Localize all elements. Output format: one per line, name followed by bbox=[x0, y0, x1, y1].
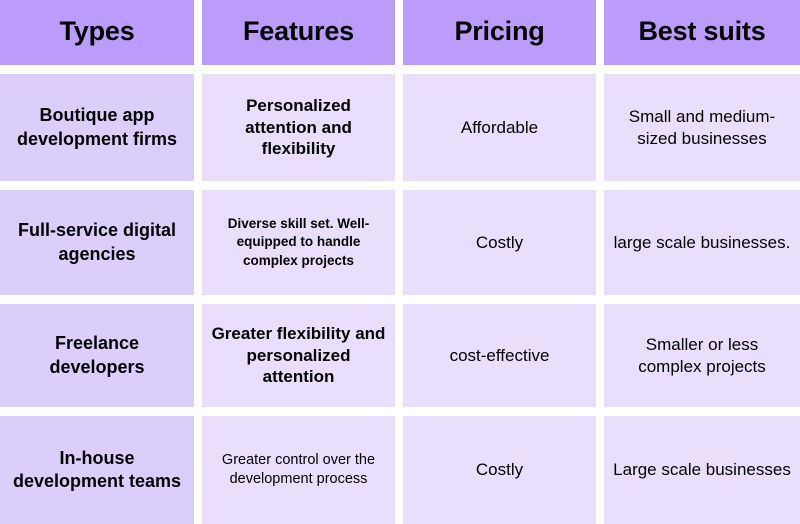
table-row-2-pricing-text: Costly bbox=[411, 232, 588, 254]
column-header-features-label: Features bbox=[210, 14, 387, 49]
table-row-2-best-suits-cell: large scale businesses. bbox=[604, 190, 800, 295]
column-header-types-label: Types bbox=[8, 14, 186, 49]
column-header-types: Types bbox=[0, 0, 194, 65]
column-header-pricing: Pricing bbox=[403, 0, 596, 65]
table-row-1-type-text: Boutique app development firms bbox=[8, 104, 186, 150]
table-row-1-best-suits-text: Small and medium-sized businesses bbox=[612, 106, 792, 150]
table-row-1-features-text: Personalized attention and flexibility bbox=[210, 95, 387, 160]
table-row-4-pricing-text: Costly bbox=[411, 459, 588, 481]
table-row-4-pricing-cell: Costly bbox=[403, 416, 596, 524]
table-row-3-best-suits-cell: Smaller or less complex projects bbox=[604, 304, 800, 407]
table-row-2-best-suits-text: large scale businesses. bbox=[612, 232, 792, 254]
table-row-2-features-cell: Diverse skill set. Well-equipped to hand… bbox=[202, 190, 395, 295]
table-row-1-pricing-cell: Affordable bbox=[403, 74, 596, 181]
table-row-1-best-suits-cell: Small and medium-sized businesses bbox=[604, 74, 800, 181]
table-row-3-type-cell: Freelance developers bbox=[0, 304, 194, 407]
table-row-4-type-cell: In-house development teams bbox=[0, 416, 194, 524]
table-row-4-type-text: In-house development teams bbox=[8, 447, 186, 493]
table-row-4-features-text: Greater control over the development pro… bbox=[210, 451, 387, 490]
table-row-4-best-suits-text: Large scale businesses bbox=[612, 459, 792, 481]
table-row-1-type-cell: Boutique app development firms bbox=[0, 74, 194, 181]
table-row-4-best-suits-cell: Large scale businesses bbox=[604, 416, 800, 524]
table-row-1-features-cell: Personalized attention and flexibility bbox=[202, 74, 395, 181]
column-header-features: Features bbox=[202, 0, 395, 65]
table-row-2-features-text: Diverse skill set. Well-equipped to hand… bbox=[210, 215, 387, 269]
table-row-3-type-text: Freelance developers bbox=[8, 332, 186, 378]
table-row-2-type-cell: Full-service digital agencies bbox=[0, 190, 194, 295]
table-row-3-features-cell: Greater flexibility and personalized att… bbox=[202, 304, 395, 407]
table-row-3-pricing-cell: cost-effective bbox=[403, 304, 596, 407]
column-header-best-suits: Best suits bbox=[604, 0, 800, 65]
table-row-3-features-text: Greater flexibility and personalized att… bbox=[210, 323, 387, 388]
comparison-table: Types Features Pricing Best suits Boutiq… bbox=[0, 0, 800, 512]
table-row-3-best-suits-text: Smaller or less complex projects bbox=[612, 334, 792, 378]
table-row-3-pricing-text: cost-effective bbox=[411, 345, 588, 367]
table-row-2-type-text: Full-service digital agencies bbox=[8, 219, 186, 265]
table-row-1-pricing-text: Affordable bbox=[411, 117, 588, 139]
column-header-pricing-label: Pricing bbox=[411, 14, 588, 49]
column-header-best-suits-label: Best suits bbox=[612, 14, 792, 49]
table-row-4-features-cell: Greater control over the development pro… bbox=[202, 416, 395, 524]
table-row-2-pricing-cell: Costly bbox=[403, 190, 596, 295]
